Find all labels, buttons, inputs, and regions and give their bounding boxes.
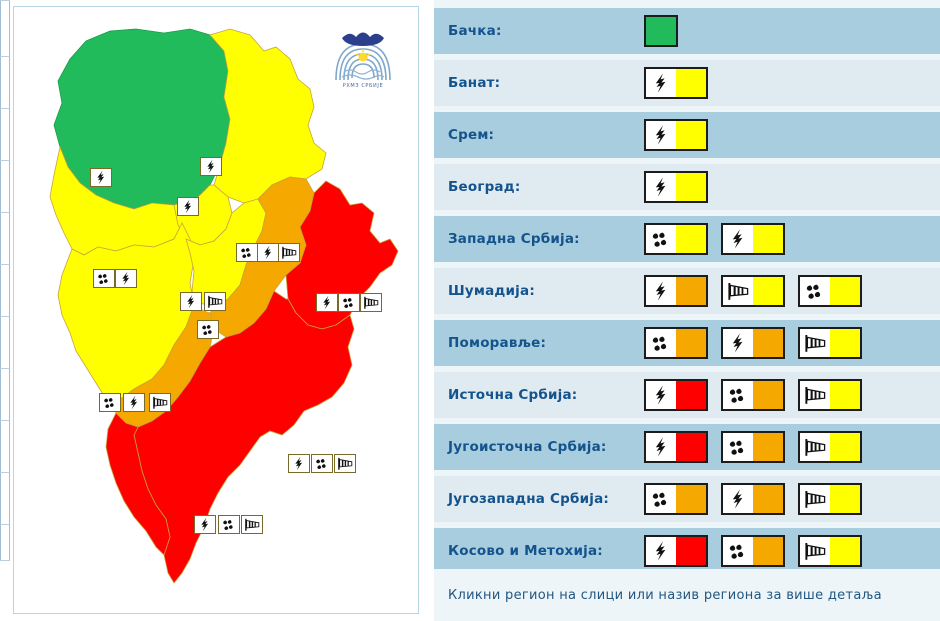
map-frame: РХМЗ СРБИЈЕ xyxy=(13,6,419,614)
map-marker-thunderstorm-icon xyxy=(177,197,199,216)
thunderstorm-icon xyxy=(646,69,676,97)
logo-crown-shape xyxy=(342,33,384,47)
thunderstorm-icon xyxy=(646,121,676,149)
alert-badge[interactable] xyxy=(644,379,708,411)
alert-badge[interactable] xyxy=(644,275,708,307)
alert-badge-group xyxy=(644,535,862,567)
alert-badge-group xyxy=(644,431,862,463)
alert-badge-group xyxy=(644,15,678,47)
alert-level-swatch xyxy=(830,433,860,461)
region-name-link[interactable]: Косово и Метохија: xyxy=(448,543,644,559)
alert-level-swatch xyxy=(830,485,860,513)
alert-badge[interactable] xyxy=(798,327,862,359)
region-row[interactable]: Београд: xyxy=(434,164,940,210)
alert-level-swatch xyxy=(753,381,783,409)
thunderstorm-icon xyxy=(723,329,753,357)
alert-badge[interactable] xyxy=(644,119,708,151)
map-marker-rain-icon xyxy=(218,515,240,534)
rain-icon xyxy=(723,433,753,461)
alert-level-swatch xyxy=(676,277,706,305)
region-name-link[interactable]: Југозападна Србија: xyxy=(448,491,644,507)
map-marker-thunderstorm-icon xyxy=(200,157,222,176)
region-row[interactable]: Западна Србија: xyxy=(434,216,940,262)
thunderstorm-icon xyxy=(646,381,676,409)
map-marker-rain-icon xyxy=(236,243,258,262)
wind-icon xyxy=(800,485,830,513)
rain-icon xyxy=(646,485,676,513)
alert-badge-group xyxy=(644,275,862,307)
rain-icon xyxy=(723,537,753,565)
alert-badge-group xyxy=(644,119,708,151)
alert-badge[interactable] xyxy=(644,327,708,359)
region-name-link[interactable]: Западна Србија: xyxy=(448,231,644,247)
thunderstorm-icon xyxy=(723,485,753,513)
meteoalarm-page: РХМЗ СРБИЈЕ Бачка:Банат:Срем:Београд:Зап… xyxy=(0,0,940,621)
map-marker-wind-icon xyxy=(278,243,300,262)
alert-badge-group xyxy=(644,379,862,411)
alert-level-swatch xyxy=(676,433,706,461)
region-row[interactable]: Бачка: xyxy=(434,8,940,54)
map-marker-thunderstorm-icon xyxy=(316,293,338,312)
region-row[interactable]: Шумадија: xyxy=(434,268,940,314)
alert-badge-group xyxy=(644,171,708,203)
alert-level-swatch xyxy=(753,485,783,513)
alert-badge[interactable] xyxy=(644,535,708,567)
alert-badge[interactable] xyxy=(721,431,785,463)
wind-icon xyxy=(800,381,830,409)
map-region-backa[interactable] xyxy=(54,29,230,209)
map-marker-thunderstorm-icon xyxy=(123,393,145,412)
footer-hint-text: Кликни регион на слици или назив региона… xyxy=(448,588,882,603)
region-row[interactable]: Југозападна Србија: xyxy=(434,476,940,522)
alert-level-swatch xyxy=(753,225,783,253)
region-row[interactable]: Срем: xyxy=(434,112,940,158)
alert-level-swatch xyxy=(830,277,860,305)
map-marker-wind-icon xyxy=(149,393,171,412)
alert-badge[interactable] xyxy=(721,275,785,307)
region-name-link[interactable]: Поморавље: xyxy=(448,335,644,351)
alert-badge[interactable] xyxy=(798,483,862,515)
alert-level-swatch xyxy=(830,537,860,565)
svg-text:РХМЗ СРБИЈЕ: РХМЗ СРБИЈЕ xyxy=(343,83,383,89)
thunderstorm-icon xyxy=(646,173,676,201)
map-marker-rain-icon xyxy=(311,454,333,473)
map-marker-wind-icon xyxy=(241,515,263,534)
alert-badge[interactable] xyxy=(798,379,862,411)
alert-badge[interactable] xyxy=(644,171,708,203)
alert-level-swatch[interactable] xyxy=(644,15,678,47)
map-panel: РХМЗ СРБИЈЕ xyxy=(0,0,434,621)
alert-badge[interactable] xyxy=(721,483,785,515)
map-marker-rain-icon xyxy=(93,269,115,288)
alert-badge[interactable] xyxy=(644,483,708,515)
thunderstorm-icon xyxy=(646,277,676,305)
alert-badge[interactable] xyxy=(721,379,785,411)
thunderstorm-icon xyxy=(723,225,753,253)
region-name-link[interactable]: Београд: xyxy=(448,179,644,195)
region-row[interactable]: Банат: xyxy=(434,60,940,106)
alert-level-swatch xyxy=(676,537,706,565)
region-row[interactable]: Косово и Метохија: xyxy=(434,528,940,574)
alert-level-swatch xyxy=(753,433,783,461)
map-marker-thunderstorm-icon xyxy=(115,269,137,288)
logo-sun-icon xyxy=(359,53,368,62)
alert-level-swatch xyxy=(676,121,706,149)
map-marker-wind-icon xyxy=(360,293,382,312)
alert-badge[interactable] xyxy=(721,223,785,255)
alert-badge[interactable] xyxy=(644,431,708,463)
alert-badge[interactable] xyxy=(798,275,862,307)
map-marker-rain-icon xyxy=(197,320,219,339)
alert-badge[interactable] xyxy=(798,431,862,463)
alert-level-swatch xyxy=(676,225,706,253)
alert-badge-group xyxy=(644,67,708,99)
alert-level-swatch xyxy=(676,485,706,513)
region-row[interactable]: Југоисточна Србија: xyxy=(434,424,940,470)
alert-badge[interactable] xyxy=(798,535,862,567)
footer-hint: Кликни регион на слици или назив региона… xyxy=(434,569,940,621)
map-marker-rain-icon xyxy=(99,393,121,412)
map-marker-thunderstorm-icon xyxy=(288,454,310,473)
alert-badge[interactable] xyxy=(721,535,785,567)
map-marker-thunderstorm-icon xyxy=(90,168,112,187)
thunderstorm-icon xyxy=(646,537,676,565)
map-marker-rain-icon xyxy=(338,293,360,312)
region-name-link[interactable]: Шумадија: xyxy=(448,283,644,299)
left-edge-sliver xyxy=(0,0,10,621)
alert-level-swatch xyxy=(676,329,706,357)
alert-level-swatch xyxy=(676,69,706,97)
alert-level-swatch xyxy=(753,329,783,357)
alert-level-swatch xyxy=(830,381,860,409)
map-marker-wind-icon xyxy=(204,292,226,311)
wind-icon xyxy=(800,433,830,461)
wind-icon xyxy=(800,329,830,357)
wind-icon xyxy=(723,277,753,305)
rhmz-logo: РХМЗ СРБИЈЕ xyxy=(330,24,396,90)
alert-level-swatch xyxy=(753,537,783,565)
alert-level-swatch xyxy=(676,173,706,201)
rain-icon xyxy=(646,329,676,357)
rain-icon xyxy=(646,225,676,253)
alert-level-swatch xyxy=(676,381,706,409)
region-rows-container: Бачка:Банат:Срем:Београд:Западна Србија:… xyxy=(434,8,940,580)
map-marker-thunderstorm-icon xyxy=(257,243,279,262)
region-name-link[interactable]: Банат: xyxy=(448,75,644,91)
alert-badge-group xyxy=(644,223,785,255)
region-row[interactable]: Поморавље: xyxy=(434,320,940,366)
alert-level-swatch xyxy=(830,329,860,357)
region-name-link[interactable]: Срем: xyxy=(448,127,644,143)
region-row[interactable]: Источна Србија: xyxy=(434,372,940,418)
rain-icon xyxy=(723,381,753,409)
alert-badge-group xyxy=(644,483,862,515)
alert-badge-group xyxy=(644,327,862,359)
alert-level-swatch xyxy=(753,277,783,305)
alert-badge[interactable] xyxy=(644,67,708,99)
rain-icon xyxy=(800,277,830,305)
map-marker-wind-icon xyxy=(334,454,356,473)
map-marker-thunderstorm-icon xyxy=(194,515,216,534)
alert-badge[interactable] xyxy=(721,327,785,359)
region-name-link[interactable]: Бачка: xyxy=(448,23,644,39)
region-name-link[interactable]: Југоисточна Србија: xyxy=(448,439,644,455)
region-alert-table-panel: Бачка:Банат:Срем:Београд:Западна Србија:… xyxy=(434,0,940,621)
thunderstorm-icon xyxy=(646,433,676,461)
region-name-link[interactable]: Источна Србија: xyxy=(448,387,644,403)
alert-badge[interactable] xyxy=(644,223,708,255)
map-marker-thunderstorm-icon xyxy=(180,292,202,311)
wind-icon xyxy=(800,537,830,565)
